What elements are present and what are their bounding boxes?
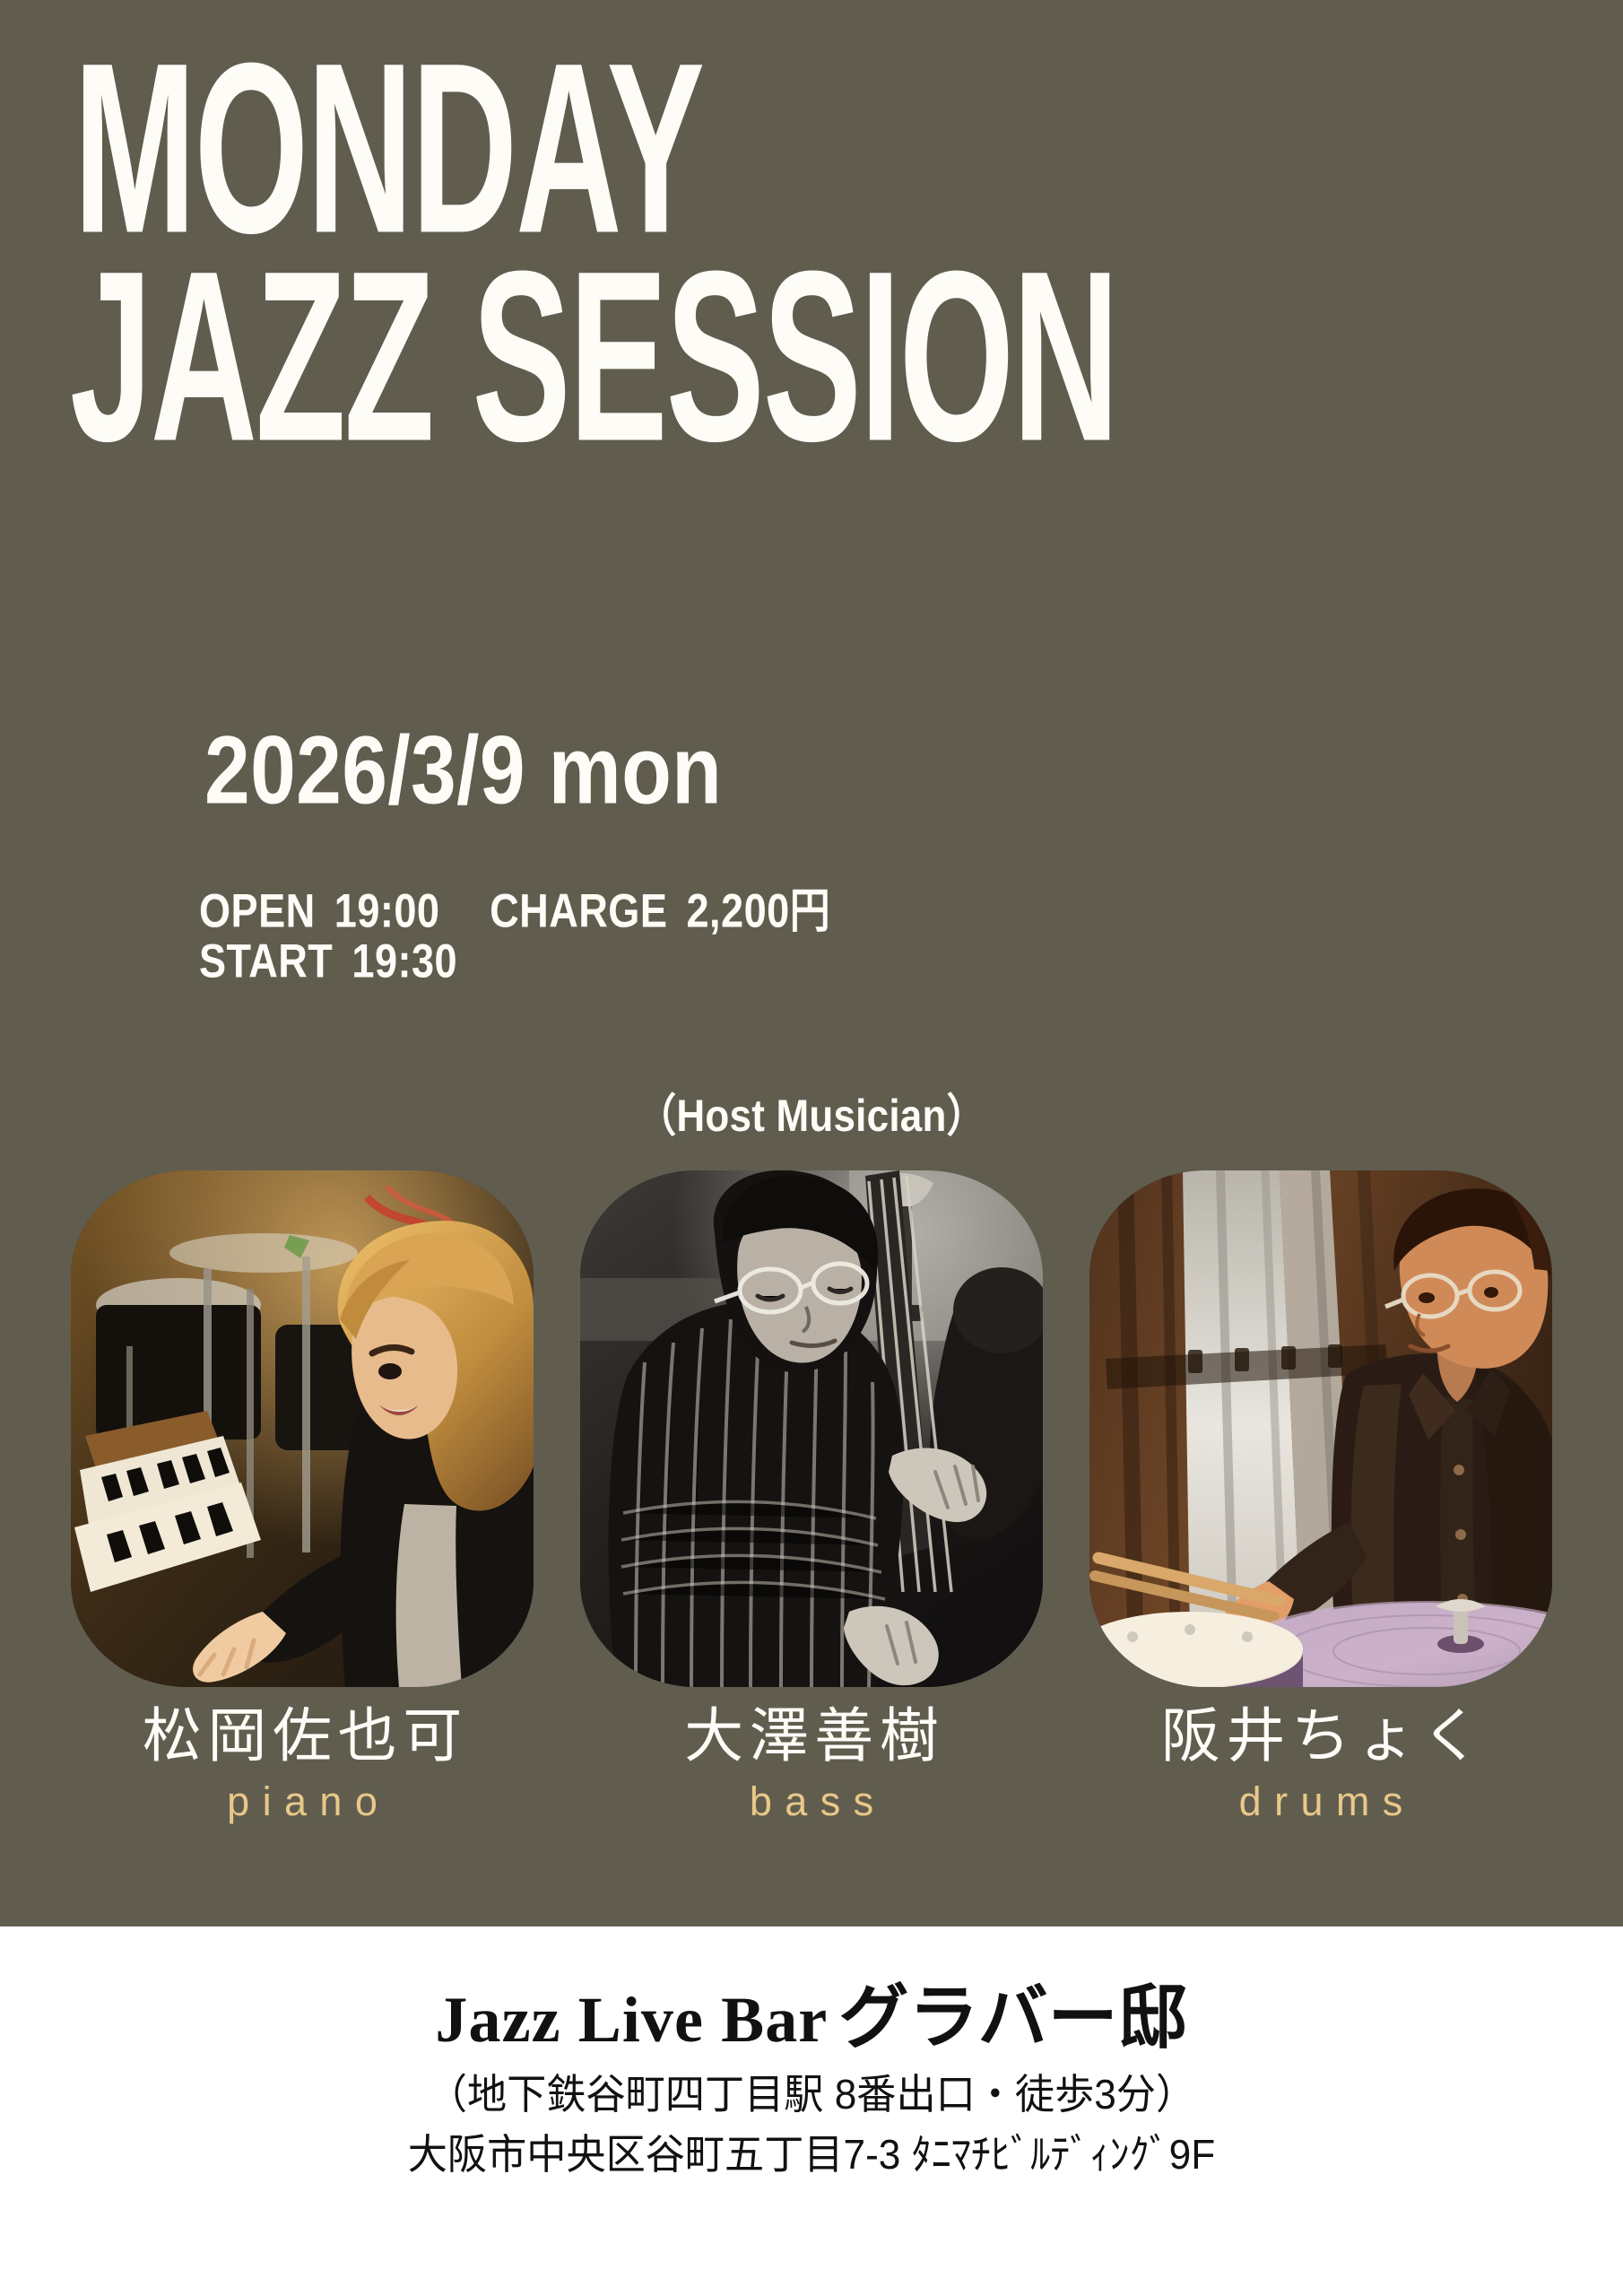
musician-name: 大澤善樹	[679, 1703, 945, 1770]
musician-name: 松岡佐也可	[136, 1703, 468, 1770]
charge-label: CHARGE	[490, 883, 667, 936]
pianist-photo-art	[71, 1170, 534, 1687]
jazz-session-poster: MONDAY JAZZ SESSION 2026/3/9 mon OPEN19:…	[0, 0, 1623, 2296]
musician-name: 阪井ちょく	[1155, 1703, 1487, 1770]
open-charge-row: OPEN19:00CHARGE2,200円	[199, 872, 830, 941]
start-row: START19:30	[199, 933, 457, 988]
venue-footer: Jazz Live Barグラバー邸 （地下鉄谷町四丁目駅 8番出口・徒歩3分）…	[0, 1926, 1623, 2296]
musician-list: 松岡佐也可 piano	[0, 1170, 1623, 1825]
drummer-photo-art	[1089, 1170, 1552, 1687]
musician-card-bass: 大澤善樹 bass	[580, 1170, 1043, 1825]
start-time: 19:30	[352, 934, 457, 987]
charge-amount: 2,200円	[686, 883, 830, 936]
venue-name: Jazz Live Barグラバー邸	[0, 1982, 1623, 2052]
venue-access: （地下鉄谷町四丁目駅 8番出口・徒歩3分）	[32, 2068, 1591, 2121]
host-musician-label: （Host Musician）	[0, 1079, 1623, 1144]
musician-instrument: bass	[736, 1779, 886, 1825]
start-label: START	[199, 934, 333, 987]
musician-instrument: drums	[1226, 1779, 1415, 1825]
bassist-photo	[580, 1170, 1043, 1687]
poster-main-panel: MONDAY JAZZ SESSION 2026/3/9 mon OPEN19:…	[0, 0, 1623, 1926]
open-label: OPEN	[199, 883, 316, 936]
venue-address: 大阪市中央区谷町五丁目7-3 ﾀﾆﾏﾁﾋﾞﾙﾃﾞｨﾝｸﾞ9F	[32, 2128, 1591, 2181]
bassist-photo-art	[580, 1170, 1043, 1687]
pianist-photo	[71, 1170, 534, 1687]
drummer-photo	[1089, 1170, 1552, 1687]
headline-line-jazz-session: JAZZ SESSION	[70, 246, 1117, 469]
open-time: 19:00	[334, 883, 440, 936]
venue-name-jp: グラバー邸	[838, 1978, 1187, 2057]
musician-instrument: piano	[214, 1779, 391, 1825]
musician-card-piano: 松岡佐也可 piano	[71, 1170, 534, 1825]
event-date: 2026/3/9 mon	[204, 716, 722, 826]
musician-card-drums: 阪井ちょく drums	[1089, 1170, 1552, 1825]
venue-name-latin: Jazz Live Bar	[435, 1984, 828, 2056]
